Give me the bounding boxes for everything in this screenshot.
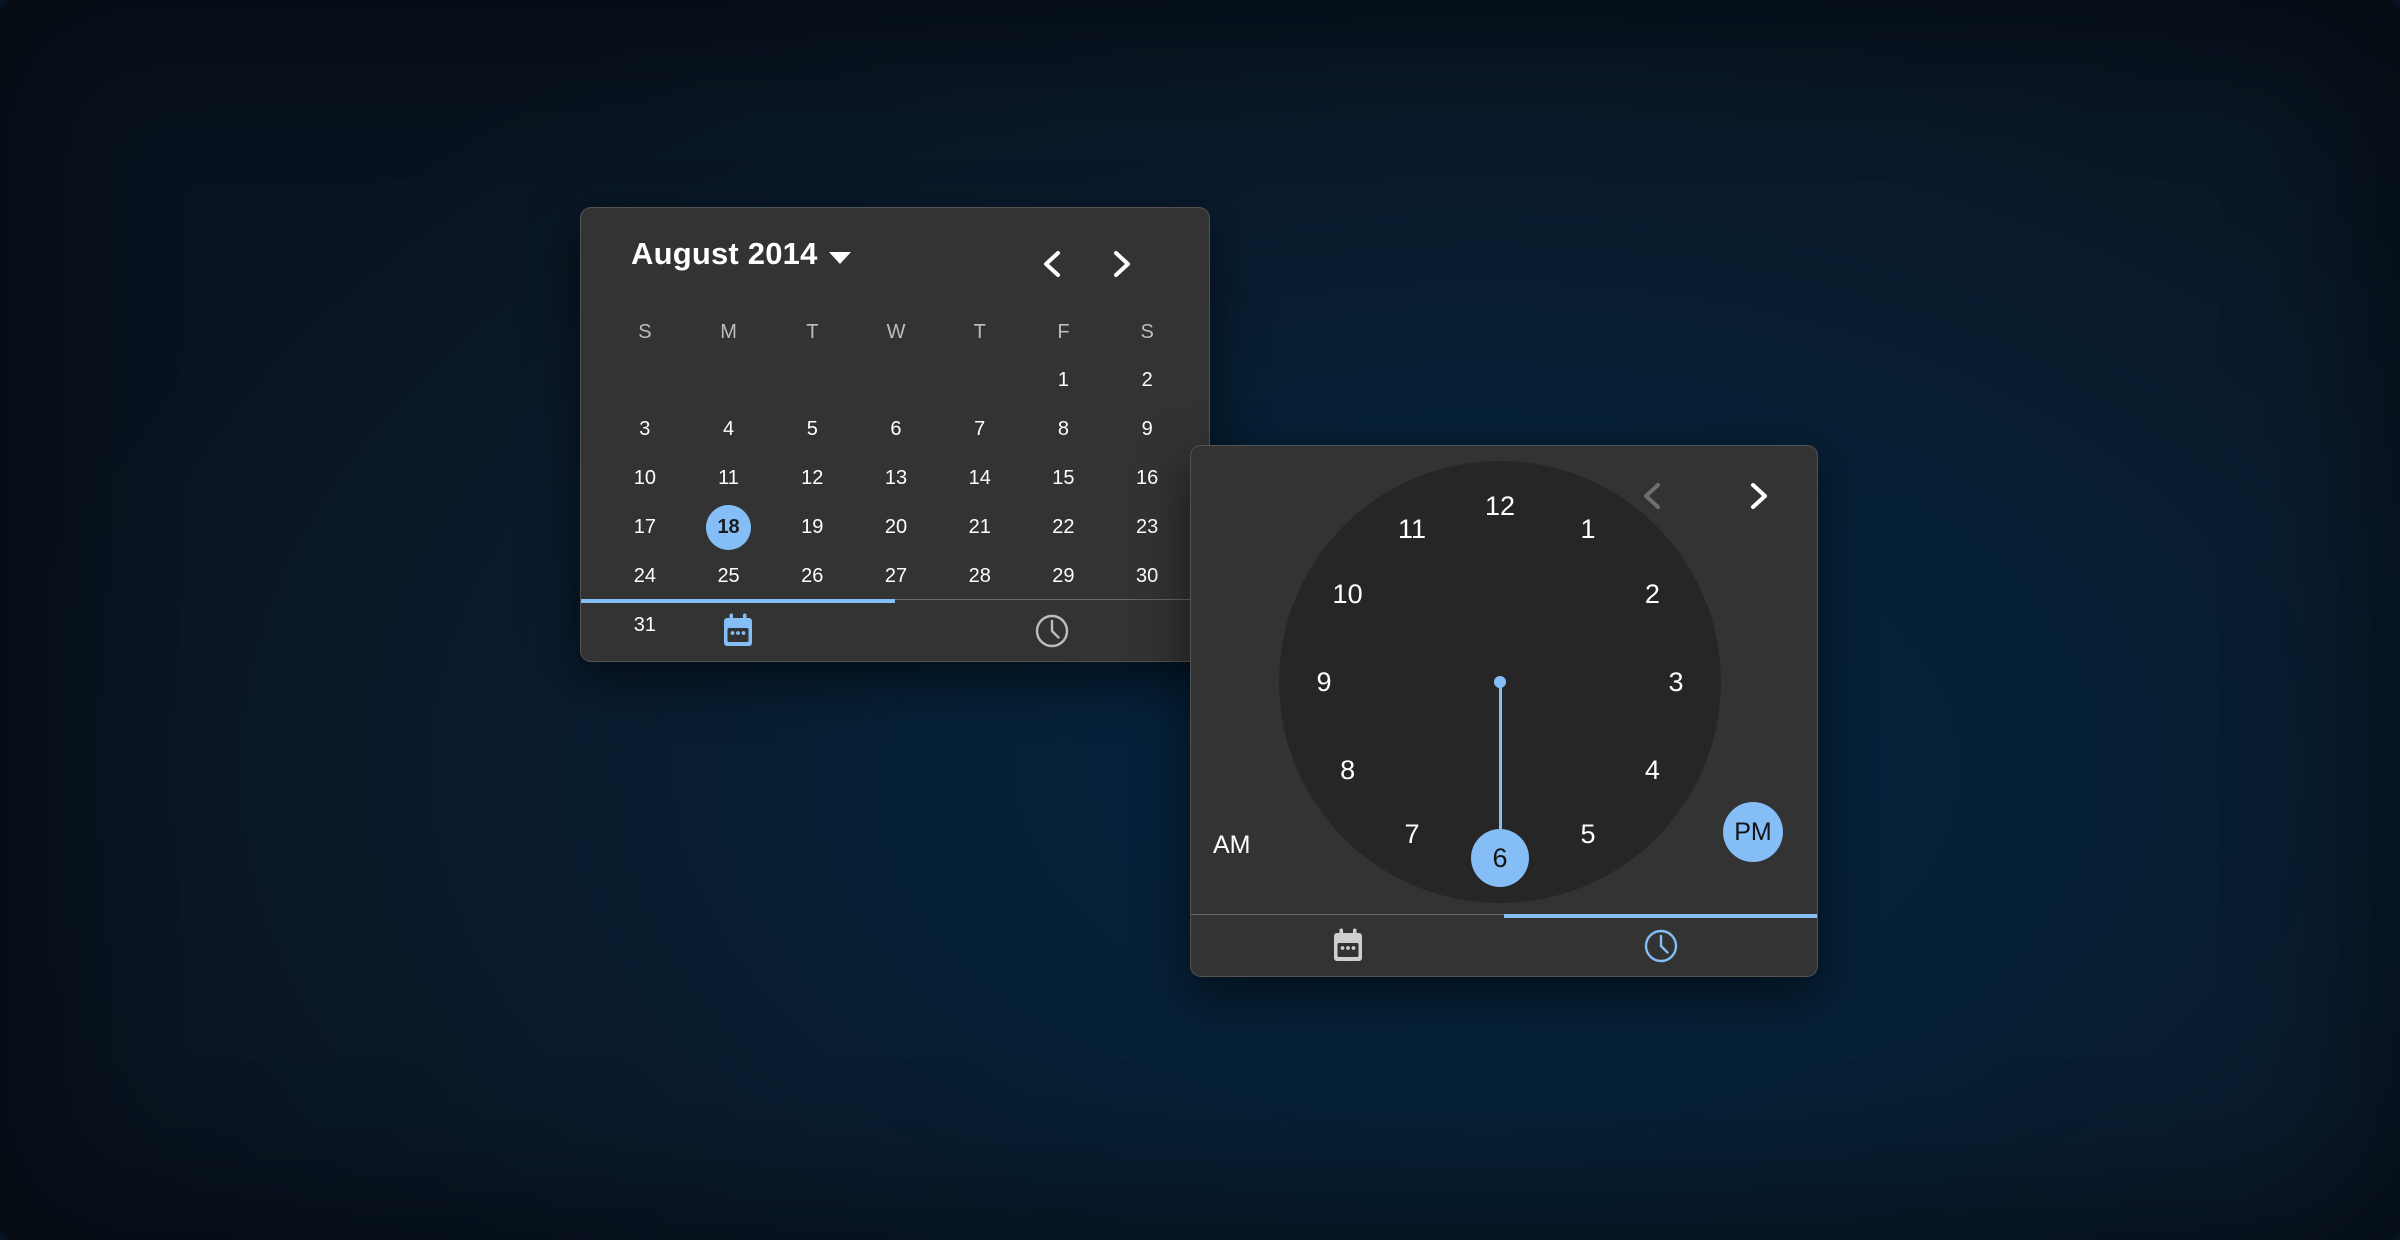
day-cell: 22 [1022,503,1106,552]
day-button[interactable]: 13 [873,456,918,501]
hour-selected[interactable]: 6 [1471,829,1529,887]
clock-icon [1033,612,1071,650]
day-button[interactable]: 30 [1125,554,1170,599]
next-button[interactable] [1736,474,1780,518]
day-cell: 18 [687,503,771,552]
day-cell-empty [854,356,938,405]
day-cell: 5 [770,405,854,454]
weekday-label: M [687,321,771,344]
day-cell: 1 [1022,356,1106,405]
day-button[interactable]: 2 [1125,358,1170,403]
day-cell: 17 [603,503,687,552]
hour-option[interactable]: 3 [1647,653,1705,711]
day-cell: 21 [938,503,1022,552]
day-button[interactable]: 19 [790,505,835,550]
date-picker-title: August 2014 [631,236,818,272]
hour-option[interactable]: 1 [1559,501,1617,559]
day-button[interactable]: 9 [1125,407,1170,452]
day-cell-empty [770,356,854,405]
day-button[interactable]: 10 [622,456,667,501]
time-picker-dialog: 121234567891011 AM PM [1190,445,1818,977]
hour-option[interactable]: 12 [1471,477,1529,535]
day-button[interactable]: 29 [1041,554,1086,599]
tab-date[interactable] [581,600,895,661]
day-cell: 15 [1022,454,1106,503]
day-cell: 29 [1022,552,1106,601]
day-cell: 8 [1022,405,1106,454]
calendar-icon [1331,928,1365,964]
day-button[interactable]: 21 [957,505,1002,550]
day-button[interactable]: 8 [1041,407,1086,452]
day-button[interactable]: 24 [622,554,667,599]
day-cell: 4 [687,405,771,454]
day-button[interactable]: 26 [790,554,835,599]
day-cell: 30 [1105,552,1189,601]
day-cell-empty [938,356,1022,405]
day-button[interactable]: 16 [1125,456,1170,501]
day-cell: 14 [938,454,1022,503]
clock-hand [1499,682,1502,829]
day-cell: 19 [770,503,854,552]
day-cell-empty [687,356,771,405]
day-button[interactable]: 28 [957,554,1002,599]
hour-option[interactable]: 8 [1319,741,1377,799]
day-button[interactable]: 5 [790,407,835,452]
day-button[interactable]: 1 [1041,358,1086,403]
day-button[interactable]: 22 [1041,505,1086,550]
day-button[interactable]: 20 [873,505,918,550]
day-button[interactable]: 12 [790,456,835,501]
day-cell: 27 [854,552,938,601]
hour-option[interactable]: 5 [1559,805,1617,863]
clock-center-dot [1494,676,1506,688]
day-cell: 2 [1105,356,1189,405]
tab-time[interactable] [1504,915,1817,976]
day-cell: 25 [687,552,771,601]
day-cell: 6 [854,405,938,454]
day-cell: 20 [854,503,938,552]
day-cell: 24 [603,552,687,601]
day-cell: 23 [1105,503,1189,552]
day-cell: 13 [854,454,938,503]
previous-button[interactable] [1631,474,1675,518]
hour-option[interactable]: 9 [1295,653,1353,711]
tab-date[interactable] [1191,915,1504,976]
time-picker-tabbar [1191,914,1817,976]
day-cell: 16 [1105,454,1189,503]
chevron-down-icon[interactable] [829,252,851,264]
hour-option[interactable]: 4 [1623,741,1681,799]
hour-option[interactable]: 7 [1383,805,1441,863]
day-cell: 28 [938,552,1022,601]
day-button[interactable]: 4 [706,407,751,452]
day-cell: 3 [603,405,687,454]
date-picker-tabbar [581,599,1209,661]
day-button[interactable]: 15 [1041,456,1086,501]
day-selected[interactable]: 18 [706,505,751,550]
day-button[interactable]: 23 [1125,505,1170,550]
weekday-label: T [770,321,854,344]
clock-icon [1642,927,1680,965]
date-picker-dialog: August 2014 SMTWTFS 12345678910111213141… [580,207,1210,662]
calendar-icon [721,613,755,649]
hour-option[interactable]: 10 [1319,565,1377,623]
date-picker-header: August 2014 [581,208,1209,300]
pm-option[interactable]: PM [1723,802,1783,862]
weekday-label: T [938,321,1022,344]
day-button[interactable]: 3 [622,407,667,452]
day-button[interactable]: 7 [957,407,1002,452]
day-cell: 26 [770,552,854,601]
day-cell-empty [603,356,687,405]
day-button[interactable]: 14 [957,456,1002,501]
next-month-button[interactable] [1099,242,1143,286]
day-button[interactable]: 25 [706,554,751,599]
weekday-label: S [603,321,687,344]
hour-option[interactable]: 2 [1623,565,1681,623]
day-button[interactable]: 6 [873,407,918,452]
day-cell: 11 [687,454,771,503]
day-cell: 10 [603,454,687,503]
previous-month-button[interactable] [1031,242,1075,286]
hour-option[interactable]: 11 [1383,501,1441,559]
clock-face: 121234567891011 [1279,461,1721,903]
weekday-label: F [1022,321,1106,344]
day-button[interactable]: 11 [706,456,751,501]
day-cell: 9 [1105,405,1189,454]
day-cell: 7 [938,405,1022,454]
am-option[interactable]: AM [1213,831,1251,860]
day-button[interactable]: 27 [873,554,918,599]
weekday-label: W [854,321,938,344]
day-button[interactable]: 17 [622,505,667,550]
weekday-header-row: SMTWTFS [603,321,1189,344]
tab-time[interactable] [895,600,1209,661]
weekday-label: S [1105,321,1189,344]
day-cell: 12 [770,454,854,503]
